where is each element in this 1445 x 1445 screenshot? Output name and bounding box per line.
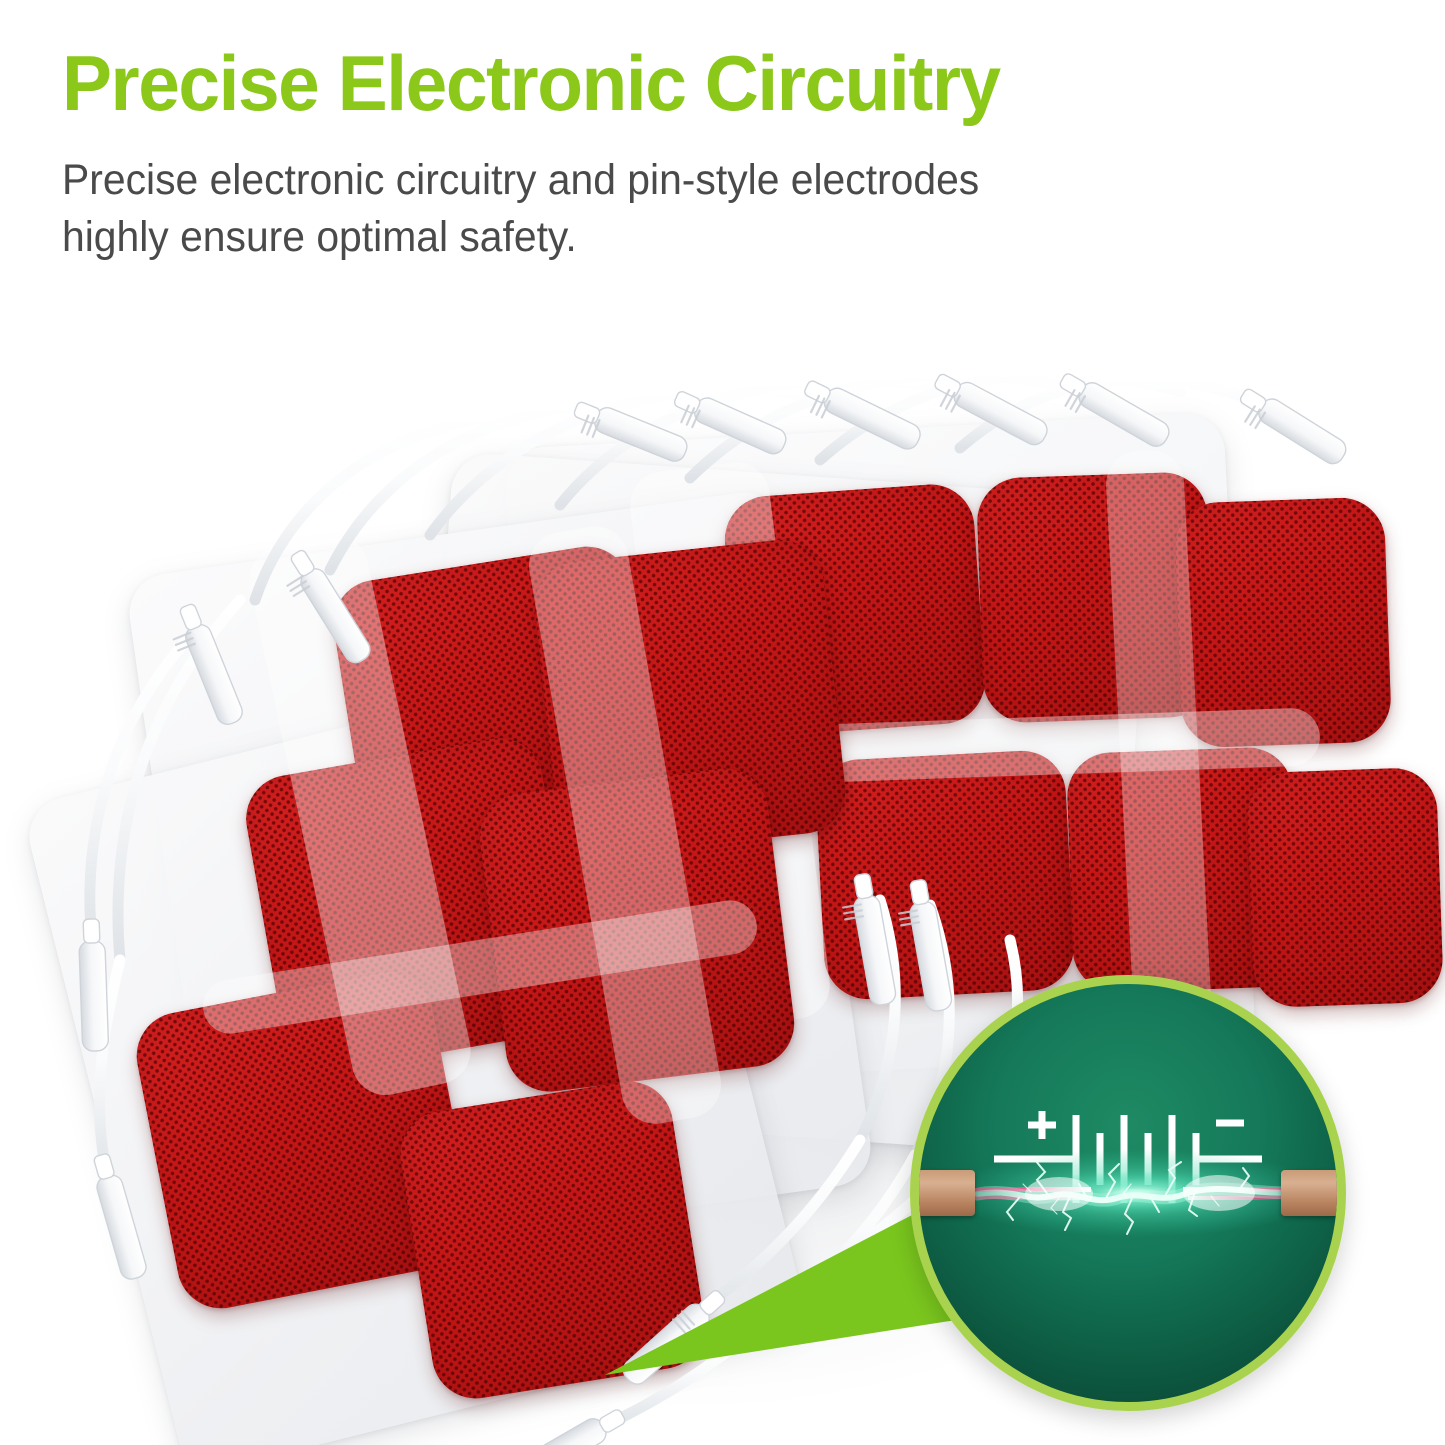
arc-terminal-right xyxy=(1281,1170,1343,1216)
page-subtitle: Precise electronic circuitry and pin-sty… xyxy=(62,152,1022,266)
page-subtitle-line-1: Precise electronic circuitry and pin-sty… xyxy=(62,152,1022,209)
product-feature-image: Precise Electronic Circuitry Precise ele… xyxy=(0,0,1445,1445)
page-subtitle-line-2: highly ensure optimal safety. xyxy=(62,209,1022,266)
circuitry-detail-inset xyxy=(910,975,1346,1411)
arc-terminal-left xyxy=(913,1170,975,1216)
electric-arc-illustration xyxy=(919,1118,1337,1268)
page-title: Precise Electronic Circuitry xyxy=(62,44,1000,122)
